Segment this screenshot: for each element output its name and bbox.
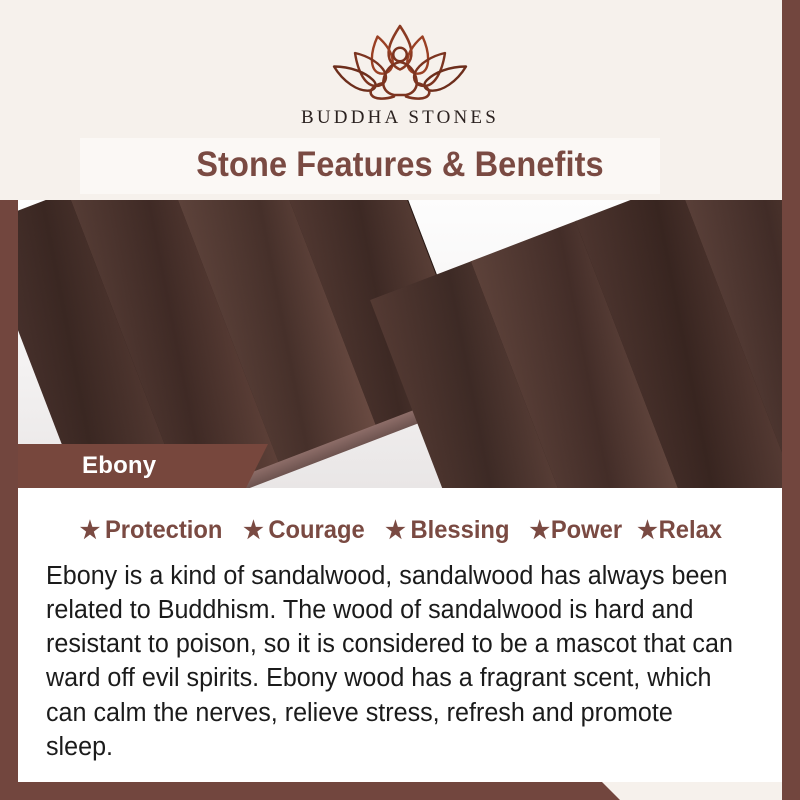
header: BUDDHA STONES Stone Features & Benefits	[18, 0, 782, 200]
benefit-label: Relax	[658, 516, 721, 545]
frame-band-left	[0, 200, 18, 800]
benefit-item: ★ Power	[529, 516, 622, 545]
benefit-label: Power	[551, 516, 622, 545]
content-panel: ★ Protection ★ Courage ★ Blessing ★ Powe…	[18, 488, 782, 782]
benefit-label: Blessing	[411, 516, 510, 545]
star-icon: ★	[386, 519, 406, 543]
poster: BUDDHA STONES Stone Features & Benefits …	[0, 0, 800, 800]
product-name-label: Ebony	[82, 452, 156, 480]
benefit-item: ★ Blessing	[386, 516, 510, 545]
frame-band-right	[782, 0, 800, 800]
frame-band-left-notch	[0, 200, 18, 218]
star-icon: ★	[637, 519, 657, 543]
benefit-item: ★ Courage	[244, 516, 366, 545]
lotus-meditation-icon	[325, 20, 475, 104]
product-description: Ebony is a kind of sandalwood, sandalwoo…	[46, 559, 739, 764]
benefit-label: Courage	[269, 516, 365, 545]
benefit-item: ★ Protection	[80, 516, 223, 545]
star-icon: ★	[244, 519, 264, 543]
star-icon: ★	[529, 519, 549, 543]
product-name-ribbon: Ebony	[18, 444, 268, 488]
page-title: Stone Features & Benefits	[45, 145, 756, 185]
star-icon: ★	[80, 519, 100, 543]
benefit-item: ★ Relax	[637, 516, 722, 545]
brand-name: BUDDHA STONES	[301, 107, 499, 129]
brand-logo: BUDDHA STONES	[18, 20, 782, 129]
benefits-list: ★ Protection ★ Courage ★ Blessing ★ Powe…	[18, 488, 782, 545]
benefit-label: Protection	[105, 516, 222, 545]
frame-band-bottom	[0, 782, 620, 800]
